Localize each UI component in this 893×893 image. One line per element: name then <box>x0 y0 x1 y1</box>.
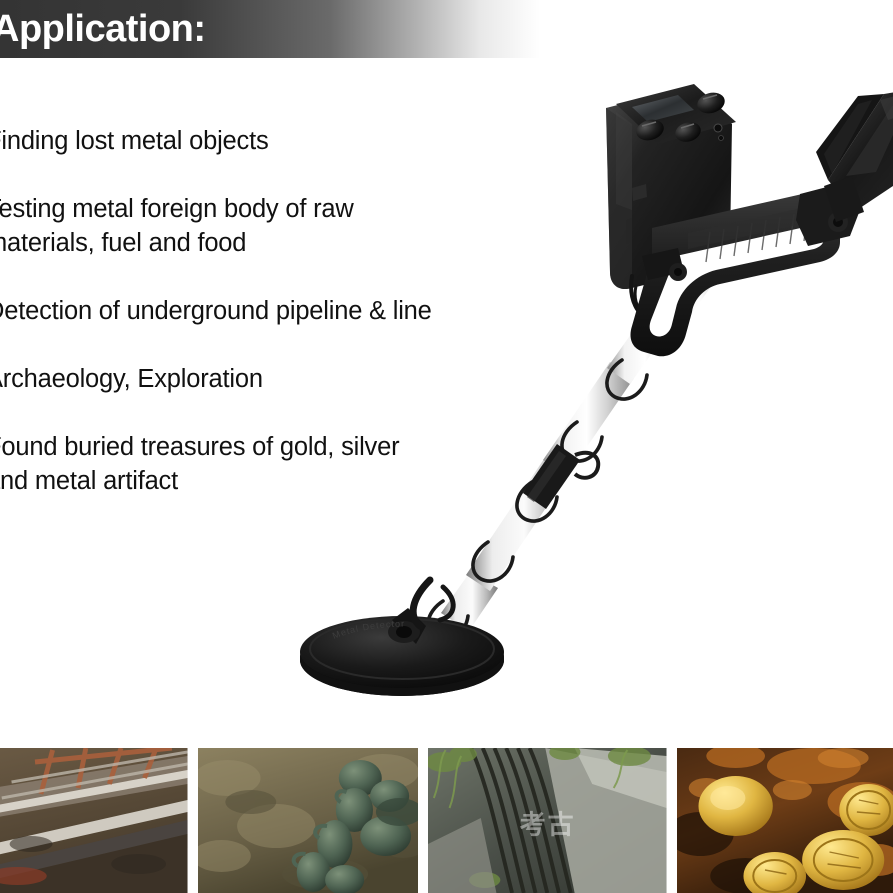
header-band: Application: <box>0 0 893 58</box>
page-title: Application: <box>0 7 206 51</box>
arm-rest <box>796 88 893 246</box>
photo-pipeline-excavation <box>0 748 188 893</box>
list-item: Archaeology, Exploration <box>0 362 263 396</box>
photo-buried-bronze-artifacts <box>198 748 419 893</box>
list-item: Finding lost metal objects <box>0 124 269 158</box>
photo-buried-cables: 考古 <box>428 748 667 893</box>
photo-gold-nuggets-coins <box>677 748 893 893</box>
metal-detector-image: Metal Detector <box>280 60 893 700</box>
photo-strip: 考古 <box>0 748 893 893</box>
